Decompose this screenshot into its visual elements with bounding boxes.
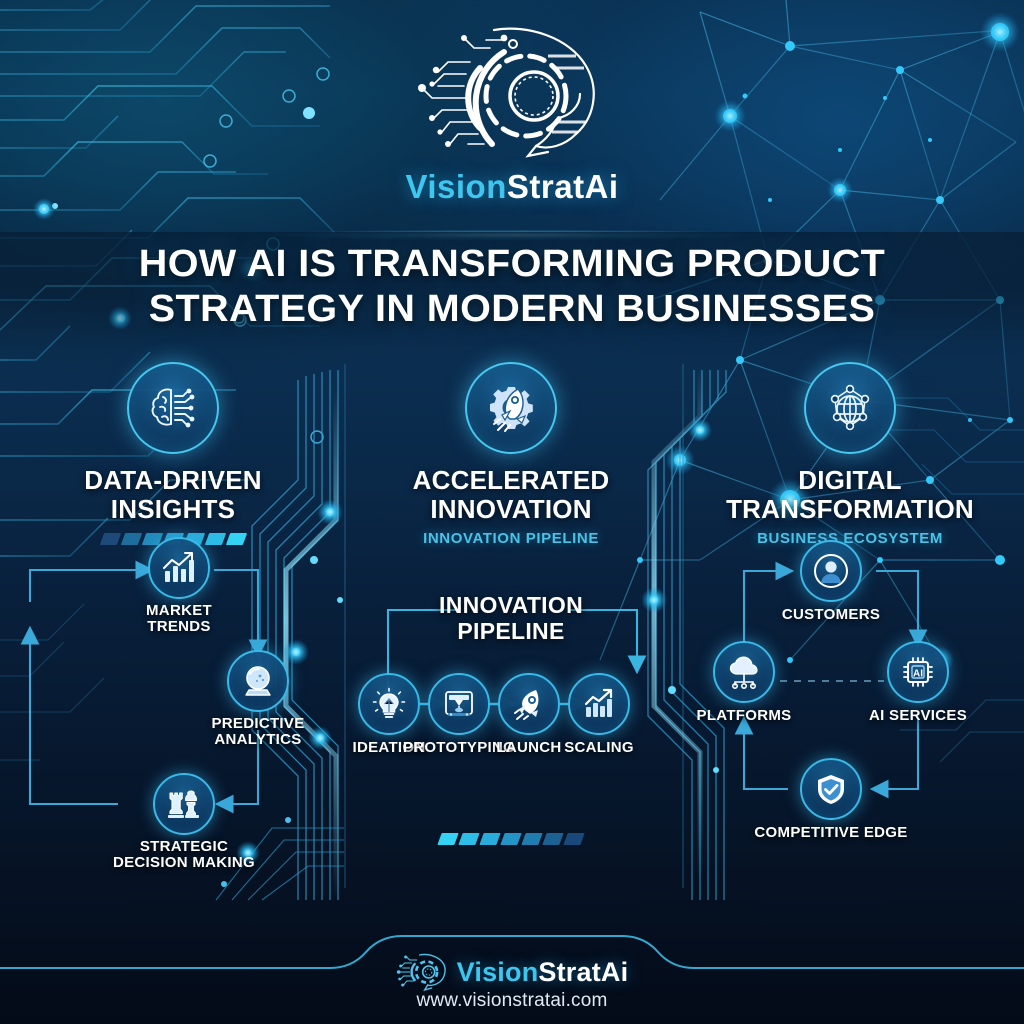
footer-name-part2: StratAi xyxy=(538,957,628,987)
node-label: LAUNCH xyxy=(496,739,561,756)
cloud-network-icon xyxy=(726,655,762,689)
node-label: CUSTOMERS xyxy=(782,606,880,623)
node-label-line-1: MARKET xyxy=(146,603,212,619)
node-ai-services[interactable]: AI AI SERVICES xyxy=(887,641,949,703)
header: VisionStratAi xyxy=(0,0,1024,232)
node-label-line-1: PREDICTIVE xyxy=(211,716,304,732)
chess-pieces-icon xyxy=(165,785,203,823)
column-digital-transformation: DIGITAL TRANSFORMATION BUSINESS ECOSYSTE… xyxy=(684,352,1016,892)
3d-printer-icon xyxy=(442,687,476,721)
node-label: PREDICTIVE ANALYTICS xyxy=(211,716,304,748)
brand-wordmark: VisionStratAi xyxy=(405,168,618,206)
footer-url[interactable]: www.visionstratai.com xyxy=(416,990,607,1012)
node-label-line-2: DECISION MAKING xyxy=(113,855,255,871)
page-title: HOW AI IS TRANSFORMING PRODUCT STRATEGY … xyxy=(62,242,962,332)
circuit-eye-icon xyxy=(408,22,616,162)
growth-chart-icon xyxy=(582,687,616,721)
ai-chip-icon: AI xyxy=(900,654,936,690)
footer: VisionStratAi www.visionstratai.com xyxy=(0,920,1024,1024)
accent-bars xyxy=(440,833,583,845)
pipeline-label-line-2: PIPELINE xyxy=(396,618,626,644)
node-market-trends[interactable]: MARKET TRENDS xyxy=(148,537,210,599)
crystal-ball-icon xyxy=(240,663,276,699)
node-strategic-decision-making[interactable]: STRATEGIC DECISION MAKING xyxy=(153,773,215,835)
node-label: AI SERVICES xyxy=(869,707,967,724)
node-label-line-1: STRATEGIC xyxy=(113,839,255,855)
node-label-line-2: ANALYTICS xyxy=(211,732,304,748)
footer-wordmark: VisionStratAi xyxy=(457,957,629,988)
brand-name-part1: Vision xyxy=(405,168,506,205)
infographic-canvas: VisionStratAi HOW AI IS TRANSFORMING PRO… xyxy=(0,0,1024,1024)
node-ideation[interactable]: IDEATION xyxy=(358,673,420,735)
node-label-line-2: TRENDS xyxy=(146,619,212,635)
node-predictive-analytics[interactable]: PREDICTIVE ANALYTICS xyxy=(227,650,289,712)
footer-brand: VisionStratAi xyxy=(396,952,629,992)
title-line-1: HOW AI IS TRANSFORMING PRODUCT xyxy=(44,242,980,287)
innovation-pipeline-label: INNOVATION PIPELINE xyxy=(396,592,626,644)
node-label: MARKET TRENDS xyxy=(146,603,212,635)
user-avatar-icon xyxy=(813,553,849,589)
shield-check-icon xyxy=(814,772,848,806)
title-line-2: STRATEGY IN MODERN BUSINESSES xyxy=(44,287,980,332)
node-customers[interactable]: CUSTOMERS xyxy=(800,540,862,602)
node-label: SCALING xyxy=(564,739,634,756)
footer-name-part1: Vision xyxy=(457,957,539,987)
brand-name-part2: StratAi xyxy=(507,168,619,205)
node-competitive-edge[interactable]: COMPETITIVE EDGE xyxy=(800,758,862,820)
column-accelerated-innovation: ACCELERATED INNOVATION INNOVATION PIPELI… xyxy=(346,352,676,892)
node-label: STRATEGIC DECISION MAKING xyxy=(113,839,255,871)
lightbulb-icon xyxy=(372,687,406,721)
node-scaling[interactable]: SCALING xyxy=(568,673,630,735)
circuit-eye-icon xyxy=(396,952,448,992)
svg-text:AI: AI xyxy=(913,668,923,679)
node-label: PLATFORMS xyxy=(697,707,792,724)
bar-chart-growth-icon xyxy=(160,549,198,587)
node-launch[interactable]: LAUNCH xyxy=(498,673,560,735)
node-prototyping[interactable]: PROTOTYPING xyxy=(428,673,490,735)
pipeline-label-line-1: INNOVATION xyxy=(396,592,626,618)
rocket-icon xyxy=(512,687,546,721)
node-label: COMPETITIVE EDGE xyxy=(754,824,907,841)
node-platforms[interactable]: PLATFORMS xyxy=(713,641,775,703)
column-data-driven-insights: DATA-DRIVEN INSIGHTS xyxy=(8,352,338,892)
